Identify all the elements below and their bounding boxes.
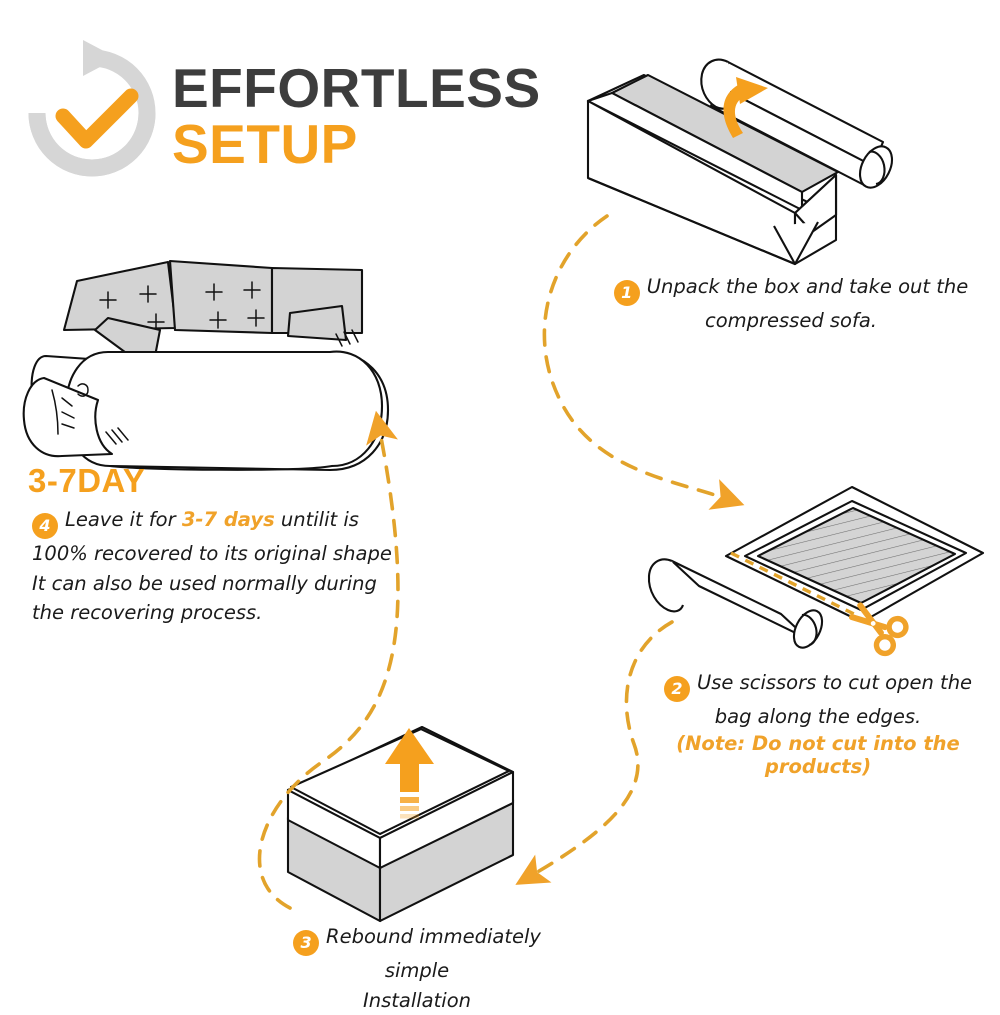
step-4-caption: 4Leave it for 3-7 days untilit is 100% r… bbox=[32, 505, 392, 628]
bag-and-mat-illustration bbox=[649, 487, 983, 657]
step-4-text-highlight: 3-7 days bbox=[182, 508, 275, 531]
step-2-text: Use scissors to cut open the bag along t… bbox=[697, 671, 972, 728]
logo-placeholder bbox=[26, 52, 158, 180]
step-3-text-line1: Rebound immediately simple bbox=[326, 925, 541, 982]
step-4-badge: 4 bbox=[32, 513, 58, 539]
page-title: EFFORTLESS SETUP bbox=[172, 58, 541, 174]
step-1-badge: 1 bbox=[614, 280, 640, 306]
step-3-text-line2: Installation bbox=[272, 986, 562, 1015]
step-2-badge: 2 bbox=[664, 676, 690, 702]
step-2-caption: 2Use scissors to cut open the bag along … bbox=[648, 668, 988, 778]
step-2-note: (Note: Do not cut into the products) bbox=[648, 732, 988, 778]
header: EFFORTLESS SETUP bbox=[26, 52, 541, 180]
infographic-canvas: EFFORTLESS SETUP 1Unpack the box and tak… bbox=[0, 0, 1000, 1000]
step-4-text-prefix: Leave it for bbox=[65, 508, 182, 531]
title-setup: SETUP bbox=[172, 116, 541, 174]
sofa-illustration bbox=[24, 261, 388, 470]
flow-arrow-box-to-bag bbox=[544, 216, 724, 498]
step-1-text: Unpack the box and take out the compress… bbox=[647, 275, 969, 332]
title-effortless: EFFORTLESS bbox=[172, 62, 541, 116]
open-box-illustration bbox=[588, 60, 898, 264]
step-3-caption: 3Rebound immediately simple Installation bbox=[272, 922, 562, 1015]
step-3-badge: 3 bbox=[293, 930, 319, 956]
expanding-cushion-illustration bbox=[288, 727, 513, 921]
recovery-days-heading: 3-7DAY bbox=[28, 462, 145, 500]
step-1-caption: 1Unpack the box and take out the compres… bbox=[602, 272, 980, 336]
